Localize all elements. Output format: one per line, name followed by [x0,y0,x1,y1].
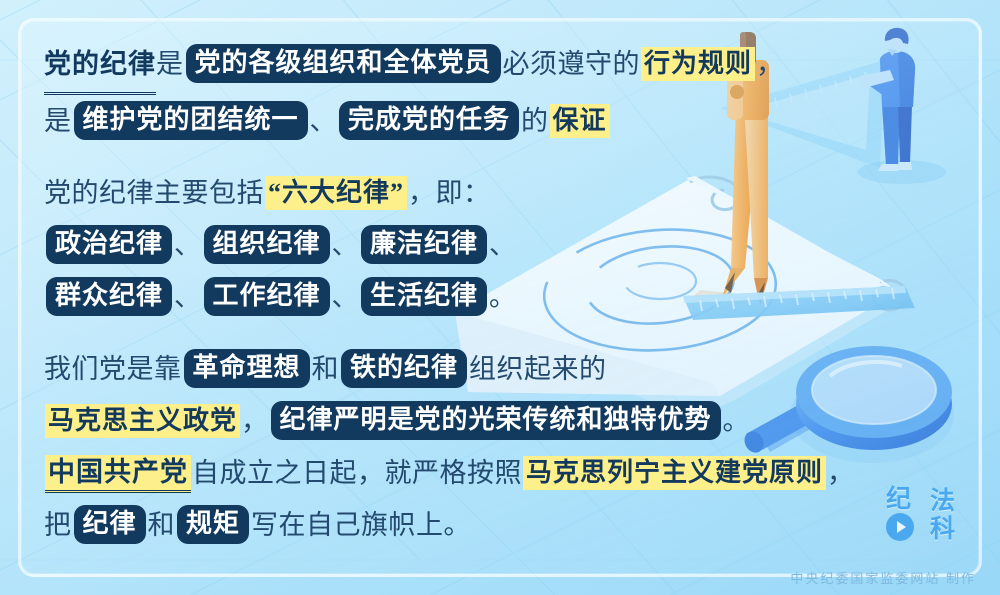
pill-tag: 政治纪律 [46,225,172,264]
plain-run: 、 [332,282,360,312]
pill-tag: 纪律 [74,505,146,544]
poster-root: 党的纪律是党的各级组织和全体党员必须遵守的行为规则， 是维护党的团结统一、完成党… [0,0,1000,595]
plain-run: 把 [44,510,72,540]
play-icon [886,513,914,541]
plain-run: 写在自己旗帜上。 [251,510,471,540]
highlight-tag: 马克思列宁主义建党原则 [523,456,826,490]
plain-run: 。 [489,282,517,312]
plain-run: 必须遵守的 [503,49,641,79]
logo-char-fa: 法 [930,487,955,515]
plain-run: 。 [723,406,751,436]
plain-run: 党的纪律主要包括 [44,178,264,208]
text-line: 党的纪律是党的各级组织和全体党员必须遵守的行为规则， [44,38,744,95]
pill-tag: 规矩 [177,505,249,544]
pill-tag: 党的各级组织和全体党员 [186,44,501,83]
pill-tag: 群众纪律 [46,277,172,316]
plain-run: ， [827,458,855,488]
plain-run: ，即： [408,178,491,208]
text-line: 马克思主义政党，纪律严明是党的光荣传统和独特优势。 [44,395,744,447]
plain-run: 、 [174,230,202,260]
highlight-tag: 马克思主义政党 [45,404,240,438]
pill-tag: 完成党的任务 [339,101,519,140]
plain-run: 我们党是靠 [44,354,182,384]
pill-tag: 廉洁纪律 [361,225,487,264]
credit-text: 中央纪委国家监委网站 制作 [790,568,976,587]
plain-run: 、 [174,282,202,312]
plain-run: ， [756,49,784,79]
plain-run: 是 [156,49,184,79]
emph-party-discipline: 党的纪律 [44,38,156,95]
text-line: 是维护党的团结统一、完成党的任务的保证 [44,95,744,147]
pill-tag: 纪律严明是党的光荣传统和独特优势 [271,401,721,440]
plain-run: 、 [489,230,517,260]
magnifying-glass-icon [741,346,954,463]
text-line: 党的纪律主要包括“六大纪律”，即： [44,167,744,219]
text-line: 政治纪律、组织纪律、廉洁纪律、 [44,219,744,271]
plain-run: 的 [521,106,549,136]
plain-run: 自成立之日起，就严格按照 [192,458,522,488]
highlight-tag: “六大纪律” [265,176,407,210]
text-line: 把纪律和规矩写在自己旗帜上。 [44,499,744,551]
plain-run: 、 [332,230,360,260]
standing-person-icon [858,28,946,184]
emph-cpc: 中国共产党 [45,455,191,493]
pill-tag: 组织纪律 [204,225,330,264]
plain-run: ， [241,406,269,436]
logo-char-ke: 科 [930,515,955,543]
highlight-tag: 行为规则 [641,47,755,81]
logo-char-ji: 纪 [886,485,911,513]
pill-tag: 工作纪律 [204,277,330,316]
highlight-tag: 保证 [550,104,610,138]
paragraph-1: 党的纪律是党的各级组织和全体党员必须遵守的行为规则， 是维护党的团结统一、完成党… [44,38,744,147]
text-line: 中国共产党自成立之日起，就严格按照马克思列宁主义建党原则， [44,447,744,499]
plain-run: 是 [44,106,72,136]
text-content: 党的纪律是党的各级组织和全体党员必须遵守的行为规则， 是维护党的团结统一、完成党… [44,38,744,551]
pill-tag: 铁的纪律 [341,349,467,388]
pill-tag: 生活纪律 [361,277,487,316]
text-line: 我们党是靠革命理想和铁的纪律组织起来的 [44,343,744,395]
plain-run: 和 [148,510,176,540]
paragraph-2: 党的纪律主要包括“六大纪律”，即： 政治纪律、组织纪律、廉洁纪律、 群众纪律、工… [44,167,744,323]
pill-tag: 维护党的团结统一 [74,101,308,140]
plain-run: 、 [310,106,338,136]
paragraph-3: 我们党是靠革命理想和铁的纪律组织起来的 马克思主义政党，纪律严明是党的光荣传统和… [44,343,744,551]
plain-run: 和 [312,354,340,384]
text-line: 群众纪律、工作纪律、生活纪律。 [44,271,744,323]
brand-logo[interactable]: 纪 法 科 [884,485,976,543]
pill-tag: 革命理想 [184,349,310,388]
plain-run: 组织起来的 [469,354,607,384]
